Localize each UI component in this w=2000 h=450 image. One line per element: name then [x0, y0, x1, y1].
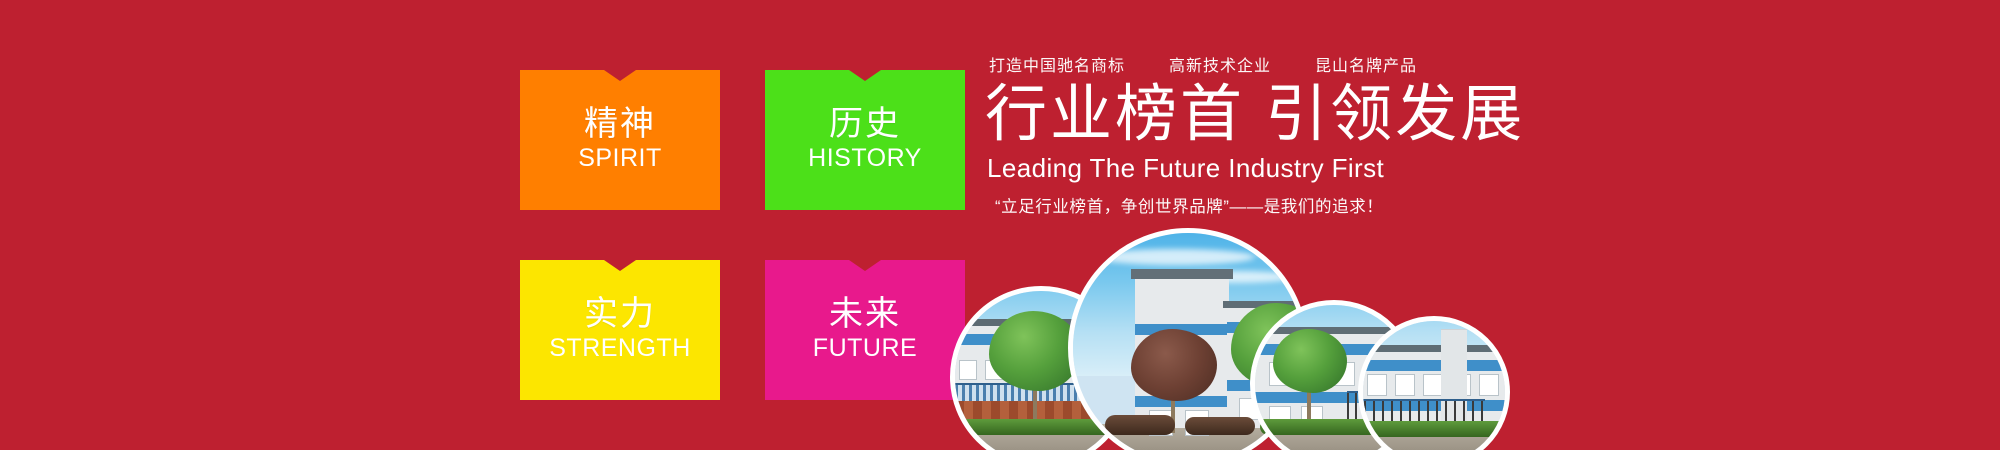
- credential-item-0: 打造中国驰名商标: [989, 52, 1125, 76]
- tile-spirit-label-cn: 精神: [584, 107, 656, 143]
- headline: 行业榜首 引领发展: [985, 82, 1605, 149]
- tile-spirit-label-en: SPIRIT: [578, 144, 662, 173]
- subheadline-english: Leading The Future Industry First: [987, 153, 1605, 184]
- photo-bubble-gate: [1358, 316, 1510, 450]
- copy-block: 打造中国驰名商标 高新技术企业 昆山名牌产品 行业榜首 引领发展 Leading…: [985, 52, 1605, 219]
- tile-history-label-cn: 历史: [829, 107, 901, 143]
- factory-photo-collage: [950, 228, 1510, 450]
- tile-spirit[interactable]: 精神 SPIRIT: [520, 70, 720, 210]
- slogan-quote: “立足行业榜首，争创世界品牌”——是我们的追求！: [995, 197, 1605, 218]
- concept-tile-grid: 精神 SPIRIT 历史 HISTORY 实力 STRENGTH 未来 FUTU…: [520, 70, 965, 400]
- promo-banner: 精神 SPIRIT 历史 HISTORY 实力 STRENGTH 未来 FUTU…: [0, 0, 2000, 450]
- tile-future-label-cn: 未来: [829, 297, 901, 333]
- tile-strength-label-cn: 实力: [584, 297, 656, 333]
- tile-strength[interactable]: 实力 STRENGTH: [520, 260, 720, 400]
- credential-list: 打造中国驰名商标 高新技术企业 昆山名牌产品: [989, 52, 1605, 76]
- tile-history[interactable]: 历史 HISTORY: [765, 70, 965, 210]
- tile-history-label-en: HISTORY: [808, 144, 922, 173]
- tile-strength-label-en: STRENGTH: [549, 334, 691, 363]
- credential-item-1: 高新技术企业: [1169, 52, 1271, 76]
- tile-future[interactable]: 未来 FUTURE: [765, 260, 965, 400]
- credential-item-2: 昆山名牌产品: [1315, 52, 1417, 76]
- tile-future-label-en: FUTURE: [813, 334, 917, 363]
